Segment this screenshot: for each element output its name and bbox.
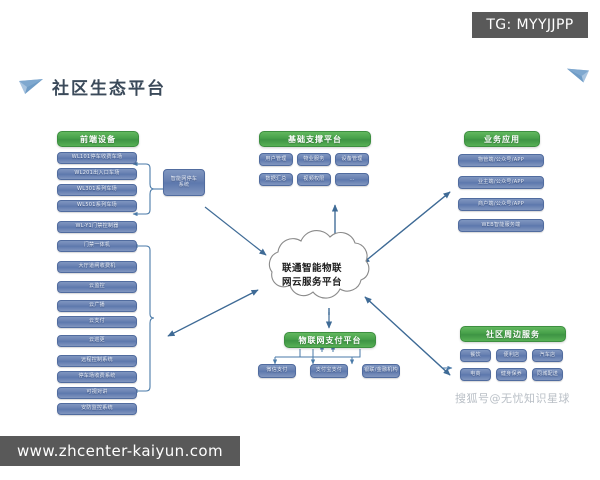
smart-parking-line2: 系统 <box>179 183 190 189</box>
item-front-end-9[interactable]: 云支付 <box>57 316 137 328</box>
item-front-end-5[interactable]: 门禁一体机 <box>57 240 137 252</box>
item-basic-2[interactable]: 设备管理 <box>335 153 369 166</box>
item-front-end-2[interactable]: WL301系列车场 <box>57 184 137 196</box>
item-business-1[interactable]: 业主端/公众号/APP <box>458 176 544 189</box>
item-front-end-3[interactable]: WL501系列车场 <box>57 200 137 212</box>
item-community-2[interactable]: 汽车店 <box>532 349 563 362</box>
item-community-5[interactable]: 同城配送 <box>532 368 563 381</box>
paper-plane-icon-decorative <box>566 66 590 86</box>
item-front-end-7[interactable]: 云监控 <box>57 281 137 293</box>
smart-parking-system-box[interactable]: 智能网停车 系统 <box>163 169 205 196</box>
group-header-basic-support-platform: 基础支撑平台 <box>259 131 371 147</box>
item-front-end-0[interactable]: WL101停车收费车场 <box>57 152 137 164</box>
item-front-end-14[interactable]: 安防监控系统 <box>57 403 137 415</box>
diagram-canvas: 社区生态平台 前端设备 WL101停车收费车场 WL201出入口车场 WL301… <box>0 0 600 480</box>
item-payment-2[interactable]: 银联/金融机构 <box>362 364 400 378</box>
page-title-group: 社区生态平台 <box>18 74 166 99</box>
watermark-url: www.zhcenter-kaiyun.com <box>0 436 240 466</box>
watermark-sohu: 搜狐号@无忧知识星球 <box>455 390 570 406</box>
item-business-0[interactable]: 物管端/公众号/APP <box>458 154 544 167</box>
item-basic-0[interactable]: 用户管理 <box>259 153 293 166</box>
cloud-line-2: 网云服务平台 <box>246 276 378 290</box>
item-basic-4[interactable]: 视频权限 <box>297 173 331 186</box>
group-header-community-services: 社区周边服务 <box>460 326 566 342</box>
cloud-node[interactable]: 联通智能物联 网云服务平台 <box>246 236 378 320</box>
item-community-0[interactable]: 餐饮 <box>460 349 491 362</box>
watermark-telegram: TG: MYYJJPP <box>472 12 588 38</box>
item-front-end-13[interactable]: 可视对讲 <box>57 387 137 399</box>
group-header-front-end-equipment: 前端设备 <box>57 131 139 147</box>
item-basic-1[interactable]: 物业服务 <box>297 153 331 166</box>
item-front-end-11[interactable]: 远程控制系统 <box>57 355 137 367</box>
item-payment-0[interactable]: 微信支付 <box>258 364 296 378</box>
item-payment-1[interactable]: 支付宝支付 <box>310 364 348 378</box>
page-title: 社区生态平台 <box>52 74 166 99</box>
item-front-end-8[interactable]: 云广播 <box>57 300 137 312</box>
item-business-2[interactable]: 商户端/公众号/APP <box>458 198 544 211</box>
paper-plane-icon <box>18 77 44 97</box>
item-front-end-4[interactable]: WL-Y1门禁控制器 <box>57 221 137 233</box>
item-community-3[interactable]: 电商 <box>460 368 491 381</box>
item-front-end-10[interactable]: 云巡更 <box>57 335 137 347</box>
item-community-4[interactable]: 健身保养 <box>496 368 527 381</box>
item-community-1[interactable]: 便利店 <box>496 349 527 362</box>
group-header-iot-payment-platform: 物联网支付平台 <box>284 332 376 348</box>
cloud-label: 联通智能物联 网云服务平台 <box>246 262 378 290</box>
item-business-3[interactable]: WEB智能服务端 <box>458 219 544 232</box>
cloud-line-1: 联通智能物联 <box>246 262 378 276</box>
group-header-business-application: 业务应用 <box>464 131 540 147</box>
item-front-end-6[interactable]: 大厅道闸收费机 <box>57 261 137 273</box>
item-front-end-1[interactable]: WL201出入口车场 <box>57 168 137 180</box>
item-basic-3[interactable]: 数据汇总 <box>259 173 293 186</box>
item-basic-5[interactable]: … <box>335 173 369 186</box>
item-front-end-12[interactable]: 停车场收费系统 <box>57 371 137 383</box>
